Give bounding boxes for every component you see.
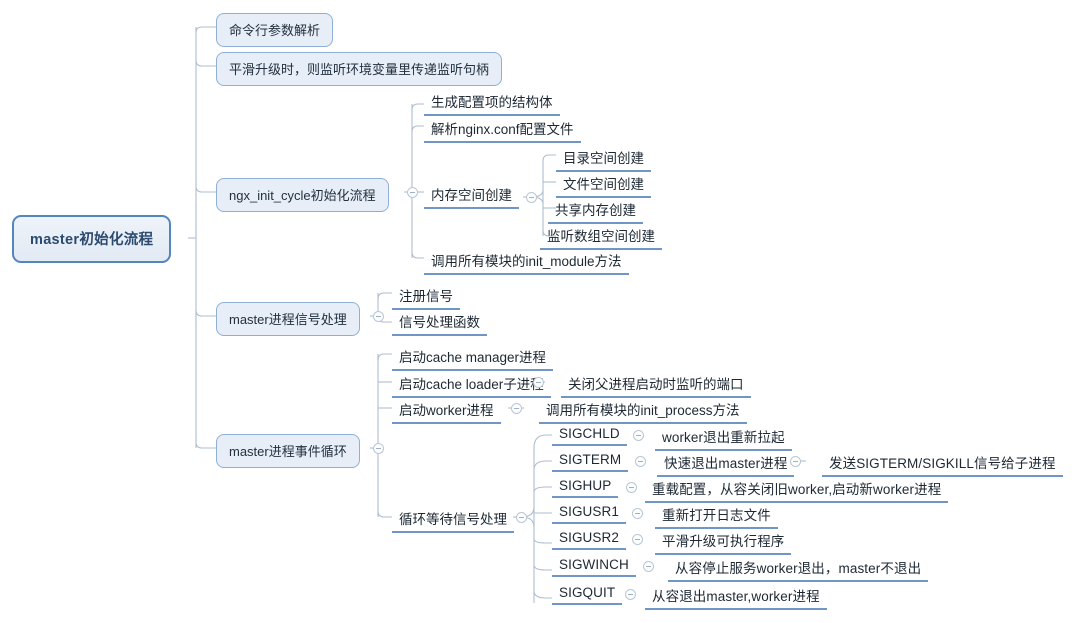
signal-desc-sigusr2[interactable]: 平滑升级可执行程序 [655, 529, 791, 555]
branch-cmdline-parse[interactable]: 命令行参数解析 [216, 13, 333, 47]
leaf-dir-space-create[interactable]: 目录空间创建 [556, 146, 651, 172]
collapse-toggle-sigchld[interactable] [633, 430, 644, 441]
branch-master-signal-handling[interactable]: master进程信号处理 [216, 302, 360, 336]
signal-name-sigquit[interactable]: SIGQUIT [552, 584, 622, 605]
collapse-toggle-sigwinch[interactable] [643, 561, 654, 572]
branch-upgrade-env-handle[interactable]: 平滑升级时，则监听环境变量里传递监听句柄 [216, 52, 502, 86]
leaf-signal-handler-function[interactable]: 信号处理函数 [392, 310, 487, 336]
collapse-toggle-master-event-loop[interactable] [373, 443, 384, 454]
root-node[interactable]: master初始化流程 [12, 215, 171, 263]
collapse-toggle-start-cache-loader[interactable] [533, 377, 544, 388]
leaf-register-signal[interactable]: 注册信号 [392, 284, 460, 310]
signal-name-sigchld[interactable]: SIGCHLD [552, 425, 627, 446]
leaf-start-cache-manager[interactable]: 启动cache manager进程 [392, 345, 553, 371]
signal-desc-sigquit[interactable]: 从容退出master,worker进程 [645, 584, 827, 610]
signal-extra-sigterm[interactable]: 发送SIGTERM/SIGKILL信号给子进程 [822, 451, 1063, 477]
leaf-generate-config-struct[interactable]: 生成配置项的结构体 [424, 90, 560, 116]
collapse-toggle-start-worker-process[interactable] [511, 403, 522, 414]
leaf-loop-wait-signal[interactable]: 循环等待信号处理 [392, 507, 514, 533]
signal-desc-sighup[interactable]: 重载配置，从容关闭旧worker,启动新worker进程 [645, 477, 948, 503]
signal-name-sigterm[interactable]: SIGTERM [552, 451, 628, 472]
leaf-call-init-process[interactable]: 调用所有模块的init_process方法 [539, 398, 747, 424]
signal-name-sighup[interactable]: SIGHUP [552, 477, 618, 498]
collapse-toggle-sighup[interactable] [626, 482, 637, 493]
collapse-toggle-ngx-init-cycle[interactable] [407, 187, 418, 198]
leaf-close-parent-listen-port[interactable]: 关闭父进程启动时监听的端口 [561, 372, 751, 398]
collapse-toggle-sigterm[interactable] [635, 456, 646, 467]
signal-name-sigusr2[interactable]: SIGUSR2 [552, 529, 626, 550]
signal-desc-sigterm[interactable]: 快速退出master进程 [657, 451, 794, 477]
branch-master-event-loop[interactable]: master进程事件循环 [216, 434, 360, 468]
leaf-memory-space-create[interactable]: 内存空间创建 [424, 183, 519, 209]
leaf-parse-nginx-conf[interactable]: 解析nginx.conf配置文件 [424, 117, 581, 143]
collapse-toggle-sigterm-extra[interactable] [790, 456, 801, 467]
leaf-start-cache-loader[interactable]: 启动cache loader子进程 [392, 372, 551, 398]
leaf-file-space-create[interactable]: 文件空间创建 [556, 172, 651, 198]
collapse-toggle-memory-space-create[interactable] [526, 192, 537, 203]
signal-desc-sigchld[interactable]: worker退出重新拉起 [655, 425, 792, 451]
collapse-toggle-master-signal-handling[interactable] [373, 311, 384, 322]
collapse-toggle-sigusr1[interactable] [632, 508, 643, 519]
mindmap-canvas: master初始化流程 命令行参数解析 平滑升级时，则监听环境变量里传递监听句柄… [0, 0, 1080, 623]
signal-desc-sigusr1[interactable]: 重新打开日志文件 [655, 503, 778, 529]
collapse-toggle-loop-wait-signal[interactable] [516, 512, 527, 523]
collapse-toggle-sigusr2[interactable] [632, 534, 643, 545]
leaf-start-worker-process[interactable]: 启动worker进程 [392, 398, 501, 424]
leaf-shared-memory-create[interactable]: 共享内存创建 [548, 198, 643, 224]
leaf-call-init-module[interactable]: 调用所有模块的init_module方法 [424, 249, 629, 275]
signal-desc-sigwinch[interactable]: 从容停止服务worker退出，master不退出 [668, 556, 928, 582]
signal-name-sigusr1[interactable]: SIGUSR1 [552, 503, 626, 524]
signal-name-sigwinch[interactable]: SIGWINCH [552, 556, 636, 577]
branch-ngx-init-cycle[interactable]: ngx_init_cycle初始化流程 [216, 178, 389, 212]
leaf-listen-array-space-create[interactable]: 监听数组空间创建 [540, 224, 662, 250]
collapse-toggle-sigquit[interactable] [625, 589, 636, 600]
